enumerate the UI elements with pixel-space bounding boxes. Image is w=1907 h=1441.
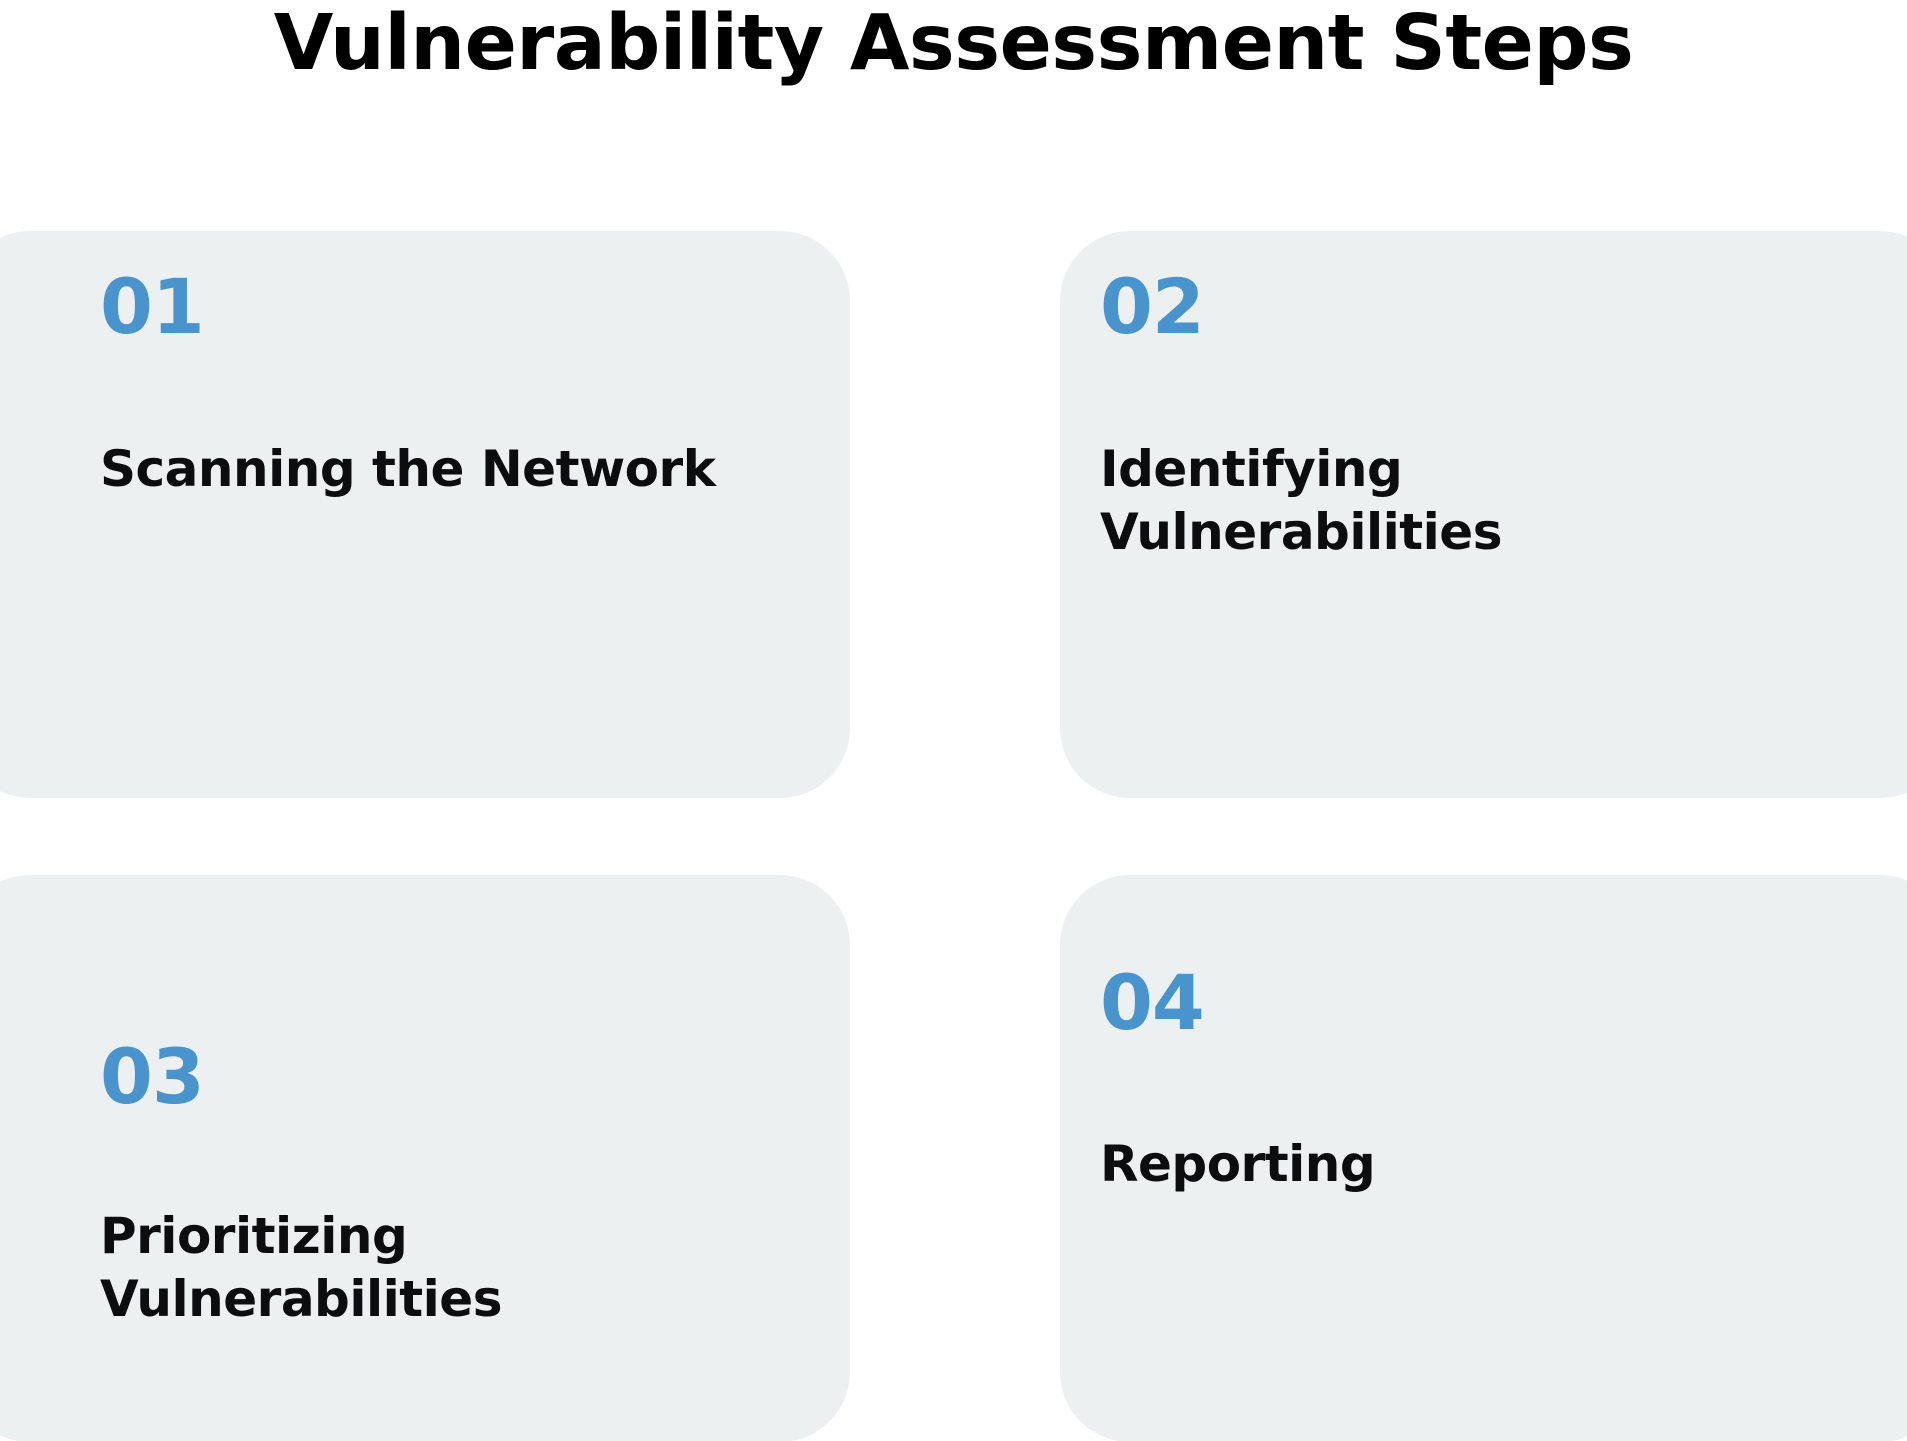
step-card-content: 01 Scanning the Network [100, 231, 790, 798]
step-card-content: 04 Reporting [1100, 875, 1890, 1441]
page-title: Vulnerability Assessment Steps [0, 0, 1907, 92]
step-card-content: 02 Identifying Vulnerabilities [1100, 231, 1890, 798]
step-number-02: 02 [1100, 269, 1204, 345]
infographic-root: Vulnerability Assessment Steps 01 Scanni… [0, 0, 1907, 1441]
step-card-03: 03 Prioritizing Vulnerabilities [0, 875, 850, 1441]
step-card-content: 03 Prioritizing Vulnerabilities [100, 875, 790, 1441]
step-card-02: 02 Identifying Vulnerabilities [1060, 231, 1907, 798]
step-title-03: Prioritizing Vulnerabilities [100, 1205, 720, 1331]
step-number-03: 03 [100, 1039, 204, 1115]
step-number-04: 04 [1100, 965, 1204, 1041]
step-card-04: 04 Reporting [1060, 875, 1907, 1441]
step-title-02: Identifying Vulnerabilities [1100, 438, 1720, 564]
step-number-01: 01 [100, 269, 204, 345]
step-title-01: Scanning the Network [100, 438, 720, 501]
step-card-01: 01 Scanning the Network [0, 231, 850, 798]
step-title-04: Reporting [1100, 1133, 1720, 1196]
